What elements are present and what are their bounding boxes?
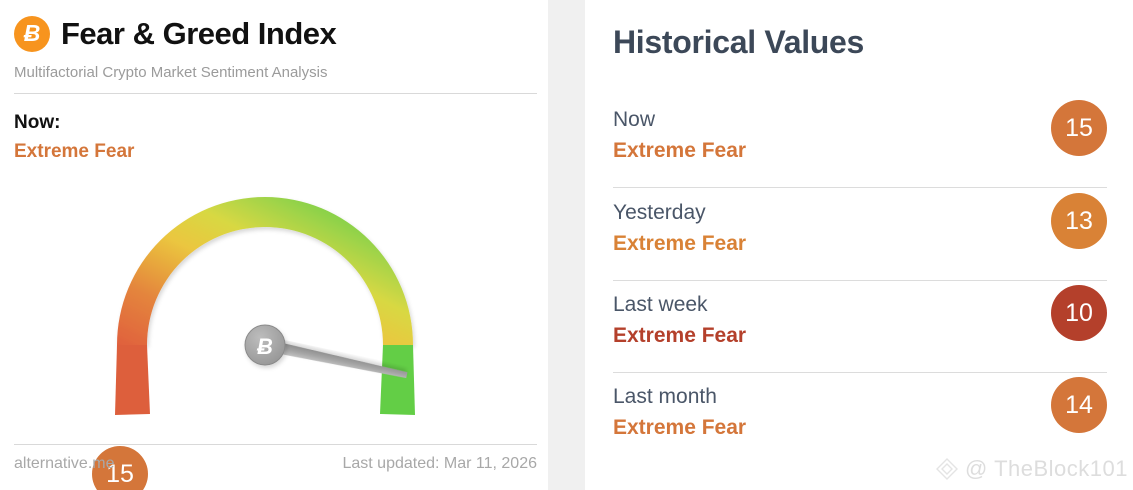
history-row-score: 15 xyxy=(1065,116,1093,141)
now-label: Now: xyxy=(14,112,60,134)
history-row-badge: 13 xyxy=(1051,193,1107,249)
history-row-sentiment: Extreme Fear xyxy=(613,232,746,256)
source-label: alternative.me xyxy=(14,455,115,473)
historical-values-title: Historical Values xyxy=(613,24,864,61)
gauge-svg: Ƀ xyxy=(60,165,480,435)
watermark: @ TheBlock101 xyxy=(934,456,1128,482)
history-row-score: 13 xyxy=(1065,209,1093,234)
fear-greed-index-widget: Ƀ Fear & Greed Index Multifactorial Cryp… xyxy=(0,0,1133,490)
history-row-label: Last month xyxy=(613,385,717,409)
history-row-divider xyxy=(613,187,1107,188)
footer-divider xyxy=(14,444,537,445)
panel-header: Ƀ Fear & Greed Index xyxy=(14,16,336,52)
rhombus-logo-icon xyxy=(934,456,960,482)
page-subtitle: Multifactorial Crypto Market Sentiment A… xyxy=(14,64,327,81)
bitcoin-icon: Ƀ xyxy=(14,16,50,52)
history-row-last-week: Last week Extreme Fear 10 xyxy=(613,281,1107,373)
history-row-badge: 14 xyxy=(1051,377,1107,433)
history-row-sentiment: Extreme Fear xyxy=(613,324,746,348)
header-divider xyxy=(14,93,537,94)
bitcoin-hub-glyph: Ƀ xyxy=(256,334,273,359)
panel-divider xyxy=(548,0,585,490)
history-row-score: 14 xyxy=(1065,393,1093,418)
bitcoin-glyph: Ƀ xyxy=(24,22,41,45)
history-row-yesterday: Yesterday Extreme Fear 13 xyxy=(613,189,1107,281)
gauge-arc-left-cap xyxy=(115,345,150,415)
history-row-label: Last week xyxy=(613,293,708,317)
historical-values-panel: Historical Values Now Extreme Fear 15 Ye… xyxy=(585,0,1133,490)
page-title: Fear & Greed Index xyxy=(61,16,336,52)
history-row-last-month: Last month Extreme Fear 14 xyxy=(613,373,1107,465)
watermark-text: @ TheBlock101 xyxy=(965,456,1128,482)
history-row-label: Now xyxy=(613,108,655,132)
gauge-arc-right-cap xyxy=(380,345,415,415)
history-row-score: 10 xyxy=(1065,301,1093,326)
now-sentiment-value: Extreme Fear xyxy=(14,141,134,163)
history-row-sentiment: Extreme Fear xyxy=(613,416,746,440)
gauge-hub: Ƀ xyxy=(245,325,285,365)
last-updated-label: Last updated: Mar 11, 2026 xyxy=(342,455,537,473)
history-row-badge: 15 xyxy=(1051,100,1107,156)
gauge-arc xyxy=(107,197,413,413)
history-row-badge: 10 xyxy=(1051,285,1107,341)
history-row-sentiment: Extreme Fear xyxy=(613,139,746,163)
fear-greed-gauge: Ƀ 15 xyxy=(60,165,480,435)
index-panel: Ƀ Fear & Greed Index Multifactorial Cryp… xyxy=(0,0,548,490)
history-row-label: Yesterday xyxy=(613,201,706,225)
history-row-now: Now Extreme Fear 15 xyxy=(613,96,1107,188)
